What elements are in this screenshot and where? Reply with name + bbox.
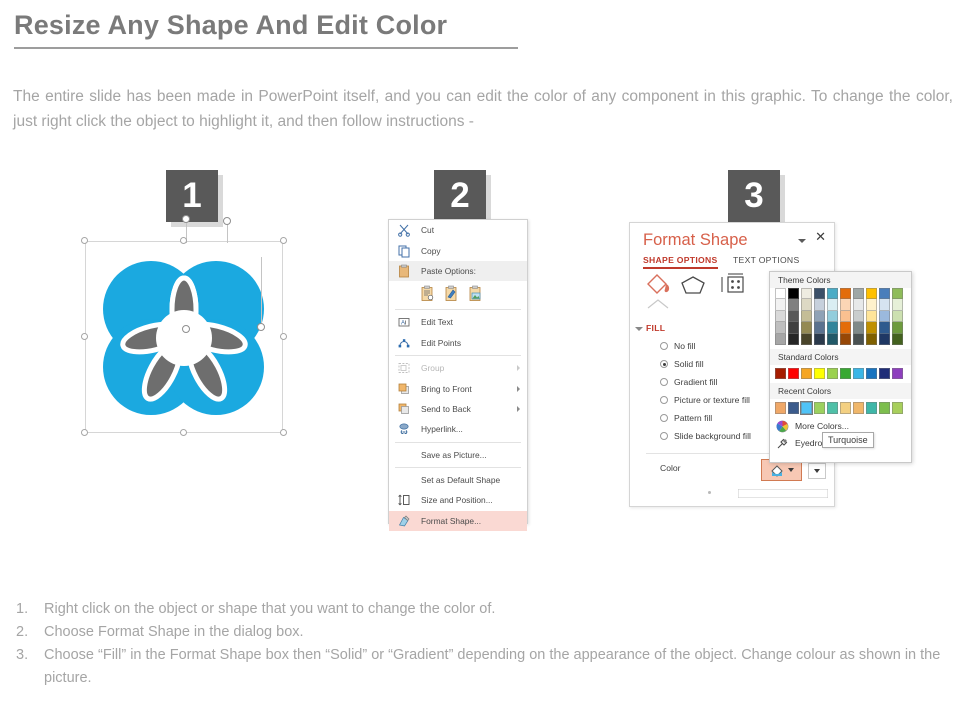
context-menu-item-send-to-back[interactable]: Send to Back <box>389 399 527 419</box>
paste-picture-icon[interactable] <box>468 285 483 304</box>
context-menu-item-cut[interactable]: Cut <box>389 220 527 240</box>
theme-color-swatch[interactable] <box>801 334 812 345</box>
theme-color-swatch[interactable] <box>853 334 864 345</box>
recent-color-swatch[interactable] <box>827 402 838 413</box>
context-menu-item-format-shape[interactable]: Format Shape... <box>389 511 527 531</box>
radio-label: Pattern fill <box>674 413 712 423</box>
radio-label: No fill <box>674 341 696 351</box>
resize-handle-e[interactable] <box>280 333 287 340</box>
context-menu-item-paste-options[interactable]: Paste Options: <box>389 261 527 281</box>
theme-color-column[interactable] <box>840 288 851 345</box>
standard-color-swatch[interactable] <box>892 368 903 379</box>
theme-color-swatch[interactable] <box>788 322 799 333</box>
theme-color-swatch[interactable] <box>892 334 903 345</box>
theme-color-column[interactable] <box>814 288 825 345</box>
theme-color-column[interactable] <box>892 288 903 345</box>
resize-handle-se[interactable] <box>280 429 287 436</box>
instructions-list: 1. Right click on the object or shape th… <box>16 598 946 690</box>
theme-color-swatch[interactable] <box>892 322 903 333</box>
theme-color-swatch[interactable] <box>801 311 812 322</box>
context-menu-item-bring-to-front[interactable]: Bring to Front <box>389 378 527 398</box>
context-menu-label: Cut <box>421 225 434 235</box>
resize-handle-sw[interactable] <box>81 429 88 436</box>
color-dropdown-toggle[interactable] <box>808 463 826 479</box>
theme-color-swatch[interactable] <box>788 311 799 322</box>
chevron-right-icon <box>517 365 520 371</box>
theme-color-swatch[interactable] <box>788 288 799 299</box>
chevron-right-icon <box>517 386 520 392</box>
standard-colors-row[interactable] <box>770 365 911 383</box>
transparency-slider[interactable] <box>738 489 828 498</box>
theme-color-swatch[interactable] <box>814 311 825 322</box>
radio-picture-texture-fill[interactable]: Picture or texture fill <box>660 395 750 405</box>
flower-center <box>156 310 212 366</box>
theme-color-swatch[interactable] <box>892 311 903 322</box>
theme-color-swatch[interactable] <box>827 311 838 322</box>
radio-label: Slide background fill <box>674 431 751 441</box>
theme-color-swatch[interactable] <box>853 299 864 310</box>
radio-button[interactable] <box>660 378 668 386</box>
context-menu-label: Format Shape... <box>421 516 481 526</box>
svg-text:A: A <box>401 321 405 327</box>
recent-color-swatch[interactable] <box>814 402 825 413</box>
chevron-down-icon[interactable] <box>798 239 806 243</box>
theme-color-swatch[interactable] <box>866 334 877 345</box>
theme-color-swatch[interactable] <box>840 288 851 299</box>
step-badge-3: 3 <box>728 170 780 222</box>
theme-color-swatch[interactable] <box>801 299 812 310</box>
instruction-number: 3. <box>16 644 44 690</box>
layout-size-icon <box>722 274 743 292</box>
instruction-item: 1. Right click on the object or shape th… <box>16 598 946 621</box>
context-menu-separator <box>395 355 521 356</box>
theme-color-swatch[interactable] <box>840 311 851 322</box>
radio-button[interactable] <box>660 432 668 440</box>
standard-color-swatch[interactable] <box>814 368 825 379</box>
edit-text-icon: A <box>397 315 411 329</box>
right-click-context-menu[interactable]: Cut Copy Paste Options: <box>388 219 528 524</box>
format-shape-icon <box>397 514 411 528</box>
theme-color-swatch[interactable] <box>866 311 877 322</box>
paste-keep-formatting-icon[interactable] <box>420 285 435 304</box>
theme-color-swatch[interactable] <box>879 288 890 299</box>
theme-color-swatch[interactable] <box>775 334 786 345</box>
context-menu-item-set-default-shape[interactable]: Set as Default Shape <box>389 470 527 490</box>
theme-color-swatch[interactable] <box>814 299 825 310</box>
step-badge-1: 1 <box>166 170 218 222</box>
theme-color-swatch[interactable] <box>866 299 877 310</box>
theme-color-swatch[interactable] <box>788 334 799 345</box>
context-menu-label: Hyperlink... <box>421 424 463 434</box>
theme-color-swatch[interactable] <box>801 322 812 333</box>
standard-color-swatch[interactable] <box>840 368 851 379</box>
radio-button[interactable] <box>660 414 668 422</box>
more-colors-label: More Colors... <box>795 421 849 431</box>
theme-color-swatch[interactable] <box>775 299 786 310</box>
context-menu-label: Send to Back <box>421 404 471 414</box>
fill-icon-active-caret <box>646 299 670 309</box>
context-menu-label: Size and Position... <box>421 495 493 505</box>
theme-color-swatch[interactable] <box>775 288 786 299</box>
standard-colors-label: Standard Colors <box>770 349 911 365</box>
radio-button[interactable] <box>660 360 668 368</box>
radio-button[interactable] <box>660 396 668 404</box>
context-menu-label: Copy <box>421 246 441 256</box>
step-badge-2: 2 <box>434 170 486 222</box>
scissors-icon <box>397 223 411 237</box>
tab-text-options[interactable]: TEXT OPTIONS <box>733 255 799 265</box>
send-back-icon <box>397 402 411 416</box>
size-position-icon <box>397 493 411 507</box>
shape-selection-panel[interactable] <box>85 241 283 433</box>
theme-color-swatch[interactable] <box>814 322 825 333</box>
instruction-item: 3. Choose “Fill” in the Format Shape box… <box>16 644 946 690</box>
standard-color-swatch[interactable] <box>788 368 799 379</box>
context-menu-item-edit-text[interactable]: A Edit Text <box>389 312 527 332</box>
radio-gradient-fill[interactable]: Gradient fill <box>660 377 717 387</box>
radio-no-fill[interactable]: No fill <box>660 341 696 351</box>
standard-color-swatch[interactable] <box>879 368 890 379</box>
recent-color-swatch[interactable] <box>788 402 799 413</box>
theme-color-swatch[interactable] <box>892 299 903 310</box>
theme-color-column[interactable] <box>775 288 786 345</box>
format-pane-icon-row[interactable] <box>644 271 764 297</box>
theme-color-swatch[interactable] <box>827 299 838 310</box>
theme-color-column[interactable] <box>827 288 838 345</box>
theme-color-swatch[interactable] <box>866 322 877 333</box>
close-icon[interactable]: ✕ <box>815 231 826 243</box>
theme-color-swatch[interactable] <box>879 311 890 322</box>
copy-icon <box>397 244 411 258</box>
group-icon <box>397 361 411 375</box>
resize-handle-n[interactable] <box>180 237 187 244</box>
format-pane-title: Format Shape <box>643 231 748 250</box>
recent-color-swatch[interactable] <box>853 402 864 413</box>
chevron-down-icon[interactable] <box>788 468 794 472</box>
recent-color-swatch[interactable] <box>801 402 812 413</box>
context-menu-item-size-and-position[interactable]: Size and Position... <box>389 490 527 510</box>
context-menu-label: Edit Text <box>421 317 453 327</box>
rotation-handle[interactable] <box>182 215 190 223</box>
collapse-triangle-icon[interactable] <box>635 327 643 331</box>
theme-color-swatch[interactable] <box>827 288 838 299</box>
hyperlink-icon <box>397 422 411 436</box>
standard-color-swatch[interactable] <box>866 368 877 379</box>
standard-color-swatch[interactable] <box>853 368 864 379</box>
fill-bucket-icon <box>769 463 786 478</box>
title-underline-rule <box>14 47 518 49</box>
theme-color-column[interactable] <box>801 288 812 345</box>
color-wheel-icon <box>776 420 789 433</box>
theme-color-column[interactable] <box>879 288 890 345</box>
adjust-handle-right[interactable] <box>257 323 265 331</box>
context-menu-label: Bring to Front <box>421 384 472 394</box>
context-menu-label: Set as Default Shape <box>421 475 500 485</box>
tab-shape-options[interactable]: SHAPE OPTIONS <box>643 255 718 265</box>
recent-color-swatch[interactable] <box>879 402 890 413</box>
radio-slide-background-fill[interactable]: Slide background fill <box>660 431 751 441</box>
instruction-item: 2. Choose Format Shape in the dialog box… <box>16 621 946 644</box>
context-menu-label: Paste Options: <box>421 266 476 276</box>
theme-color-swatch[interactable] <box>801 288 812 299</box>
intro-paragraph: The entire slide has been made in PowerP… <box>13 84 953 134</box>
paste-icon <box>397 264 411 278</box>
resize-handle-w[interactable] <box>81 333 88 340</box>
recent-color-swatch[interactable] <box>866 402 877 413</box>
radio-pattern-fill[interactable]: Pattern fill <box>660 413 712 423</box>
recent-colors-row[interactable] <box>770 399 911 417</box>
standard-color-swatch[interactable] <box>801 368 812 379</box>
theme-color-swatch[interactable] <box>853 288 864 299</box>
chevron-down-icon <box>814 469 820 473</box>
recent-color-swatch[interactable] <box>775 402 786 413</box>
theme-color-column[interactable] <box>866 288 877 345</box>
theme-color-swatch[interactable] <box>814 334 825 345</box>
context-menu-label: Group <box>421 363 444 373</box>
adjust-stem-top <box>227 223 228 243</box>
paste-options-icon-row[interactable] <box>389 281 527 307</box>
theme-color-swatch[interactable] <box>879 334 890 345</box>
radio-label: Gradient fill <box>674 377 717 387</box>
adjust-stem-right <box>261 257 262 329</box>
effects-pentagon-icon <box>682 277 704 293</box>
theme-color-swatch[interactable] <box>775 311 786 322</box>
transparency-marker <box>708 491 711 494</box>
instruction-text: Choose Format Shape in the dialog box. <box>44 621 946 644</box>
context-menu-label: Save as Picture... <box>421 450 487 460</box>
context-menu-item-hyperlink[interactable]: Hyperlink... <box>389 419 527 439</box>
theme-color-swatch[interactable] <box>827 334 838 345</box>
context-menu-label: Edit Points <box>421 338 461 348</box>
theme-colors-label: Theme Colors <box>770 272 911 288</box>
instruction-number: 1. <box>16 598 44 621</box>
radio-label: Solid fill <box>674 359 704 369</box>
paste-merge-formatting-icon[interactable] <box>444 285 459 304</box>
radio-solid-fill[interactable]: Solid fill <box>660 359 704 369</box>
instruction-text: Choose “Fill” in the Format Shape box th… <box>44 644 946 690</box>
theme-color-swatch[interactable] <box>879 299 890 310</box>
chevron-right-icon <box>517 406 520 412</box>
instruction-number: 2. <box>16 621 44 644</box>
context-menu-item-edit-points[interactable]: Edit Points <box>389 333 527 353</box>
theme-colors-grid[interactable] <box>770 288 911 345</box>
theme-color-swatch[interactable] <box>775 322 786 333</box>
eyedropper-icon <box>776 437 789 450</box>
resize-handle-nw[interactable] <box>81 237 88 244</box>
fill-bucket-icon <box>648 275 669 293</box>
context-menu-separator <box>395 442 521 443</box>
recent-colors-label: Recent Colors <box>770 383 911 399</box>
context-menu-item-save-as-picture[interactable]: Save as Picture... <box>389 445 527 465</box>
theme-color-swatch[interactable] <box>840 334 851 345</box>
radio-button[interactable] <box>660 342 668 350</box>
fill-section-header: FILL <box>646 323 665 333</box>
resize-handle-s[interactable] <box>180 429 187 436</box>
adjust-handle-center[interactable] <box>182 325 190 333</box>
flower-shape-graphic[interactable] <box>83 239 285 435</box>
theme-color-swatch[interactable] <box>814 288 825 299</box>
color-tooltip: Turquoise <box>822 432 874 448</box>
theme-color-swatch[interactable] <box>866 288 877 299</box>
theme-color-swatch[interactable] <box>879 322 890 333</box>
context-menu-separator <box>395 467 521 468</box>
recent-color-swatch[interactable] <box>840 402 851 413</box>
bring-front-icon <box>397 382 411 396</box>
context-menu-item-copy[interactable]: Copy <box>389 240 527 260</box>
theme-color-column[interactable] <box>788 288 799 345</box>
context-menu-item-group: Group <box>389 358 527 378</box>
theme-color-swatch[interactable] <box>788 299 799 310</box>
standard-color-swatch[interactable] <box>775 368 786 379</box>
context-menu-separator <box>395 309 521 310</box>
theme-color-swatch[interactable] <box>853 311 864 322</box>
theme-color-swatch[interactable] <box>827 322 838 333</box>
page-title: Resize Any Shape And Edit Color <box>14 10 447 41</box>
theme-color-swatch[interactable] <box>840 299 851 310</box>
theme-color-swatch[interactable] <box>853 322 864 333</box>
color-picker-dropdown[interactable]: Theme Colors Standard Colors Recent Colo… <box>769 271 912 463</box>
adjust-handle-top[interactable] <box>223 217 231 225</box>
standard-color-swatch[interactable] <box>827 368 838 379</box>
instruction-text: Right click on the object or shape that … <box>44 598 946 621</box>
edit-points-icon <box>397 336 411 350</box>
theme-color-column[interactable] <box>853 288 864 345</box>
color-label: Color <box>660 463 681 473</box>
recent-color-swatch[interactable] <box>892 402 903 413</box>
theme-color-swatch[interactable] <box>892 288 903 299</box>
radio-label: Picture or texture fill <box>674 395 750 405</box>
theme-color-swatch[interactable] <box>840 322 851 333</box>
resize-handle-ne[interactable] <box>280 237 287 244</box>
